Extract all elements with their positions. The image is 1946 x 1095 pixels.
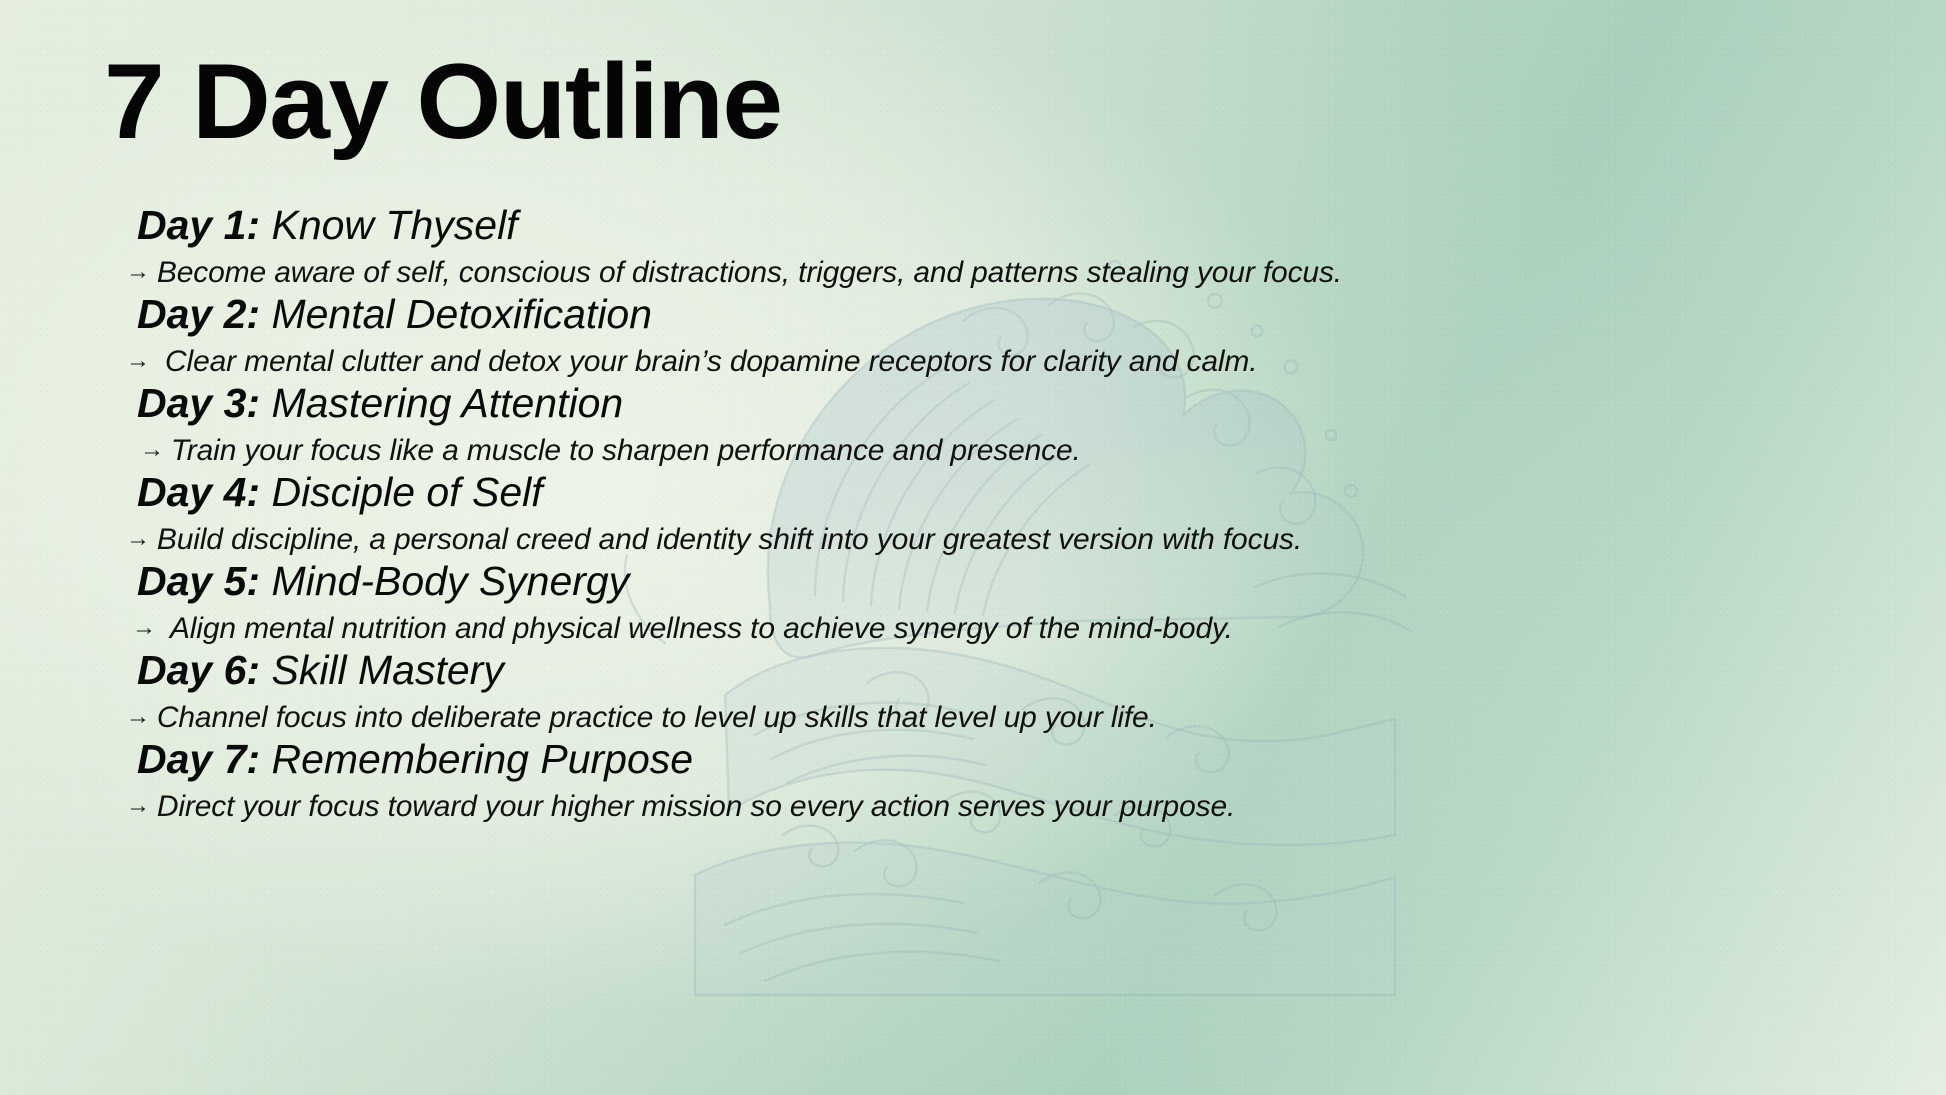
day-title: Disciple of Self xyxy=(271,469,542,515)
day-description: →Train your focus like a muscle to sharp… xyxy=(140,436,1081,466)
day-description-text: Align mental nutrition and physical well… xyxy=(163,612,1233,645)
day-title: Mental Detoxification xyxy=(271,291,652,337)
day-label: Day 4: xyxy=(137,469,260,515)
day-heading: Day 2: Mental Detoxification xyxy=(137,294,652,335)
list-item: Day 5: Mind-Body Synergy → Align mental … xyxy=(0,561,1946,650)
day-description: → Clear mental clutter and detox your br… xyxy=(126,347,1257,377)
day-description: →Direct your focus toward your higher mi… xyxy=(126,792,1235,822)
day-description: →Channel focus into deliberate practice … xyxy=(126,703,1157,733)
day-title: Know Thyself xyxy=(271,202,517,248)
list-item: Day 4: Disciple of Self →Build disciplin… xyxy=(0,472,1946,561)
day-heading: Day 1: Know Thyself xyxy=(137,205,518,246)
arrow-right-icon: → xyxy=(126,260,150,284)
day-title: Mastering Attention xyxy=(271,380,623,426)
day-description: → Align mental nutrition and physical we… xyxy=(132,614,1233,644)
page-title: 7 Day Outline xyxy=(104,48,782,155)
arrow-right-icon: → xyxy=(126,794,150,818)
day-outline-list: Day 1: Know Thyself →Become aware of sel… xyxy=(0,205,1946,828)
day-heading: Day 6: Skill Mastery xyxy=(137,650,504,691)
day-label: Day 6: xyxy=(137,647,260,693)
day-heading: Day 3: Mastering Attention xyxy=(137,383,623,424)
slide-canvas: 7 Day Outline Day 1: Know Thyself →Becom… xyxy=(0,0,1946,1095)
day-label: Day 2: xyxy=(137,291,260,337)
day-description-text: Channel focus into deliberate practice t… xyxy=(157,701,1157,734)
arrow-right-icon: → xyxy=(140,438,164,462)
list-item: Day 3: Mastering Attention →Train your f… xyxy=(0,383,1946,472)
list-item: Day 6: Skill Mastery →Channel focus into… xyxy=(0,650,1946,739)
arrow-right-icon: → xyxy=(126,527,150,551)
list-item: Day 1: Know Thyself →Become aware of sel… xyxy=(0,205,1946,294)
list-item: Day 7: Remembering Purpose →Direct your … xyxy=(0,739,1946,828)
day-title: Skill Mastery xyxy=(271,647,503,693)
day-heading: Day 5: Mind-Body Synergy xyxy=(137,561,629,602)
list-item: Day 2: Mental Detoxification → Clear men… xyxy=(0,294,1946,383)
day-description-text: Direct your focus toward your higher mis… xyxy=(157,790,1235,823)
day-description-text: Build discipline, a personal creed and i… xyxy=(157,523,1302,556)
day-description: →Build discipline, a personal creed and … xyxy=(126,525,1302,555)
day-label: Day 5: xyxy=(137,558,260,604)
day-label: Day 1: xyxy=(137,202,260,248)
day-label: Day 3: xyxy=(137,380,260,426)
day-description-text: Clear mental clutter and detox your brai… xyxy=(157,345,1258,378)
arrow-right-icon: → xyxy=(126,705,150,729)
day-title: Remembering Purpose xyxy=(271,736,693,782)
day-description: →Become aware of self, conscious of dist… xyxy=(126,258,1342,288)
day-title: Mind-Body Synergy xyxy=(271,558,629,604)
day-label: Day 7: xyxy=(137,736,260,782)
slide-content: 7 Day Outline Day 1: Know Thyself →Becom… xyxy=(0,0,1946,1095)
arrow-right-icon: → xyxy=(126,349,150,373)
day-heading: Day 4: Disciple of Self xyxy=(137,472,543,513)
day-description-text: Train your focus like a muscle to sharpe… xyxy=(171,434,1081,467)
arrow-right-icon: → xyxy=(132,616,156,640)
day-description-text: Become aware of self, conscious of distr… xyxy=(157,256,1342,289)
day-heading: Day 7: Remembering Purpose xyxy=(137,739,693,780)
